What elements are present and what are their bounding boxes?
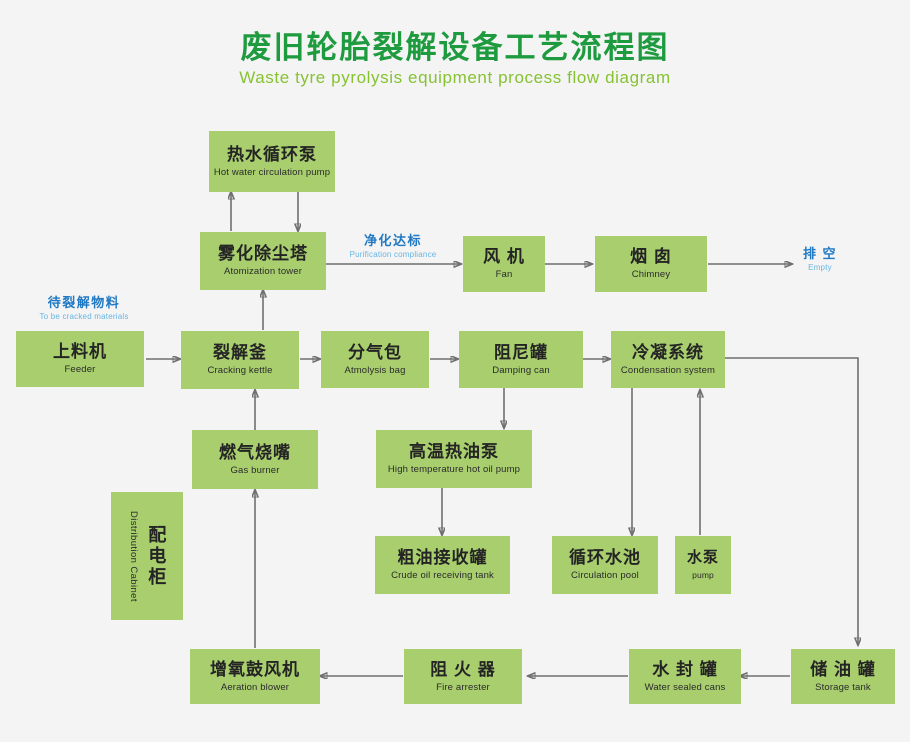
node-label-en: Distribution Cabinet — [127, 511, 139, 602]
node-label-en: Crude oil receiving tank — [391, 570, 494, 582]
node-label-cn: 裂解釜 — [213, 342, 267, 363]
node-label-en: Condensation system — [621, 365, 715, 377]
node-label-en: Fan — [496, 269, 513, 281]
node-label-en: Feeder — [64, 364, 95, 376]
node-water-pump[interactable]: 水泵 pump — [675, 536, 731, 594]
node-label-cn: 水泵 — [687, 549, 719, 568]
node-label-cn: 水 封 罐 — [652, 659, 717, 680]
node-label-en: Gas burner — [230, 465, 279, 477]
node-label-cn: 烟 囱 — [630, 246, 672, 267]
node-label-en: Atmolysis bag — [344, 365, 405, 377]
node-label-cn: 热水循环泵 — [227, 144, 317, 165]
node-label-cn: 冷凝系统 — [632, 342, 704, 363]
node-label-en: pump — [692, 570, 714, 581]
node-label-en: Hot water circulation pump — [214, 167, 330, 179]
node-water-sealed-cans[interactable]: 水 封 罐 Water sealed cans — [629, 649, 741, 704]
note-empty: 排 空 Empty — [790, 243, 850, 272]
node-atmolysis-bag[interactable]: 分气包 Atmolysis bag — [321, 331, 429, 388]
node-hot-water-circulation-pump[interactable]: 热水循环泵 Hot water circulation pump — [209, 131, 335, 192]
node-condensation-system[interactable]: 冷凝系统 Condensation system — [611, 331, 725, 388]
note-purification-compliance: 净化达标 Purification compliance — [338, 230, 448, 259]
node-label-en: Aeration blower — [221, 682, 289, 694]
node-fan[interactable]: 风 机 Fan — [463, 236, 545, 292]
node-high-temperature-hot-oil-pump[interactable]: 高温热油泵 High temperature hot oil pump — [376, 430, 532, 488]
node-crude-oil-receiving-tank[interactable]: 粗油接收罐 Crude oil receiving tank — [375, 536, 510, 594]
node-damping-can[interactable]: 阻尼罐 Damping can — [459, 331, 583, 388]
node-label-cn: 循环水池 — [569, 547, 641, 568]
node-label-en: Damping can — [492, 365, 550, 377]
note-label-cn: 净化达标 — [338, 230, 448, 249]
node-fire-arrester[interactable]: 阻 火 器 Fire arrester — [404, 649, 522, 704]
node-label-cn: 风 机 — [483, 246, 525, 267]
note-label-en: To be cracked materials — [24, 312, 144, 321]
node-chimney[interactable]: 烟 囱 Chimney — [595, 236, 707, 292]
node-gas-burner[interactable]: 燃气烧嘴 Gas burner — [192, 430, 318, 489]
node-label-en: Cracking kettle — [207, 365, 272, 377]
note-label-en: Purification compliance — [338, 250, 448, 259]
note-label-cn: 排 空 — [790, 243, 850, 262]
node-label-cn: 粗油接收罐 — [398, 547, 488, 568]
node-distribution-cabinet[interactable]: 配电柜 Distribution Cabinet — [111, 492, 183, 620]
node-cracking-kettle[interactable]: 裂解釜 Cracking kettle — [181, 331, 299, 389]
note-label-en: Empty — [790, 263, 850, 272]
note-label-cn: 待裂解物料 — [24, 292, 144, 311]
node-label-cn: 上料机 — [53, 341, 107, 362]
node-label-cn: 燃气烧嘴 — [219, 442, 291, 463]
node-label-cn: 雾化除尘塔 — [218, 243, 308, 264]
node-atomization-tower[interactable]: 雾化除尘塔 Atomization tower — [200, 232, 326, 290]
node-aeration-blower[interactable]: 增氧鼓风机 Aeration blower — [190, 649, 320, 704]
node-label-cn: 分气包 — [348, 342, 402, 363]
process-flow-diagram: 废旧轮胎裂解设备工艺流程图 Waste tyre pyrolysis equip… — [0, 0, 910, 742]
node-label-en: Fire arrester — [436, 682, 490, 694]
node-label-en: Water sealed cans — [645, 682, 726, 694]
node-label-cn: 增氧鼓风机 — [210, 659, 300, 680]
node-label-en: Chimney — [632, 269, 671, 281]
node-storage-tank[interactable]: 储 油 罐 Storage tank — [791, 649, 895, 704]
node-label-cn: 阻 火 器 — [430, 659, 495, 680]
node-label-cn: 阻尼罐 — [494, 342, 548, 363]
node-label-en: Circulation pool — [571, 570, 639, 582]
page-title-cn: 废旧轮胎裂解设备工艺流程图 — [0, 22, 910, 67]
node-label-en: Storage tank — [815, 682, 871, 694]
node-circulation-pool[interactable]: 循环水池 Circulation pool — [552, 536, 658, 594]
node-label-cn: 配电柜 — [145, 525, 168, 588]
node-label-cn: 储 油 罐 — [810, 659, 875, 680]
node-label-en: Atomization tower — [224, 266, 302, 278]
page-title-en: Waste tyre pyrolysis equipment process f… — [0, 68, 910, 88]
note-to-be-cracked-materials: 待裂解物料 To be cracked materials — [24, 292, 144, 321]
node-feeder[interactable]: 上料机 Feeder — [16, 331, 144, 387]
node-label-en: High temperature hot oil pump — [388, 464, 520, 476]
node-label-cn: 高温热油泵 — [409, 441, 499, 462]
